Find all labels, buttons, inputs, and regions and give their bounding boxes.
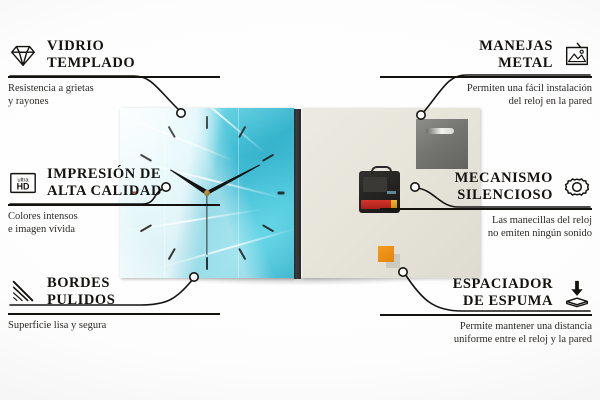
infographic-canvas: VIDRIO TEMPLADO Resistencia a grietasy r… [0, 0, 600, 400]
feature-manejas-metal: MANEJAS METAL Permiten una fácil instala… [380, 38, 592, 109]
feature-underline [8, 76, 220, 77]
metal-hanger-plate [416, 119, 468, 169]
feature-description: Las manecillas del relojno emiten ningún… [380, 214, 592, 242]
feature-description: Resistencia a grietasy rayones [8, 82, 220, 110]
feature-header: MANEJAS METAL [380, 38, 592, 72]
feature-header: ultra HD IMPRESIÓN DE ALTA CALIDAD [8, 166, 220, 200]
feature-title: VIDRIO TEMPLADO [47, 38, 135, 72]
feature-description: Superficie lisa y segura [8, 319, 220, 333]
feature-header: BORDES PULIDOS [8, 275, 220, 309]
feature-underline [380, 314, 592, 315]
feature-header: VIDRIO TEMPLADO [8, 38, 220, 72]
clock-edge-profile [294, 109, 301, 279]
gear-icon [562, 172, 592, 202]
feature-bordes-pulidos: BORDES PULIDOS Superficie lisa y segura [8, 275, 220, 332]
feature-header: MECANISMO SILENCIOSO [380, 170, 592, 204]
foam-spacer [378, 246, 394, 262]
feature-description: Colores intensose imagen vívida [8, 210, 220, 238]
feature-title: IMPRESIÓN DE ALTA CALIDAD [47, 166, 162, 200]
feature-vidrio-templado: VIDRIO TEMPLADO Resistencia a grietasy r… [8, 38, 220, 109]
svg-text:HD: HD [17, 182, 30, 192]
feature-description: Permite mantener una distanciauniforme e… [380, 320, 592, 348]
feature-title: MECANISMO SILENCIOSO [455, 170, 553, 204]
feature-title: MANEJAS METAL [479, 38, 553, 72]
feature-impresion-alta-calidad: ultra HD IMPRESIÓN DE ALTA CALIDAD Color… [8, 166, 220, 237]
clock-tick-12 [206, 116, 208, 129]
feature-underline [380, 208, 592, 209]
feature-description: Permiten una fácil instalacióndel reloj … [380, 82, 592, 110]
feature-espaciador-espuma: ESPACIADOR DE ESPUMA Permite mantener un… [380, 276, 592, 347]
clock-tick-3 [277, 192, 284, 195]
hanger-slot [426, 128, 454, 134]
ultra-hd-icon: ultra HD [8, 168, 38, 198]
polished-edges-icon [8, 277, 38, 307]
feature-title: BORDES PULIDOS [47, 275, 115, 309]
foam-spacer-icon [562, 278, 592, 308]
diamond-icon [8, 40, 38, 70]
clock-tick-6 [206, 257, 208, 270]
feature-title: ESPACIADOR DE ESPUMA [453, 276, 553, 310]
feature-underline [8, 313, 220, 314]
feature-mecanismo-silencioso: MECANISMO SILENCIOSO Las manecillas del … [380, 170, 592, 241]
wall-hanger-icon [562, 40, 592, 70]
feature-underline [8, 204, 220, 205]
feature-header: ESPACIADOR DE ESPUMA [380, 276, 592, 310]
feature-underline [380, 76, 592, 77]
